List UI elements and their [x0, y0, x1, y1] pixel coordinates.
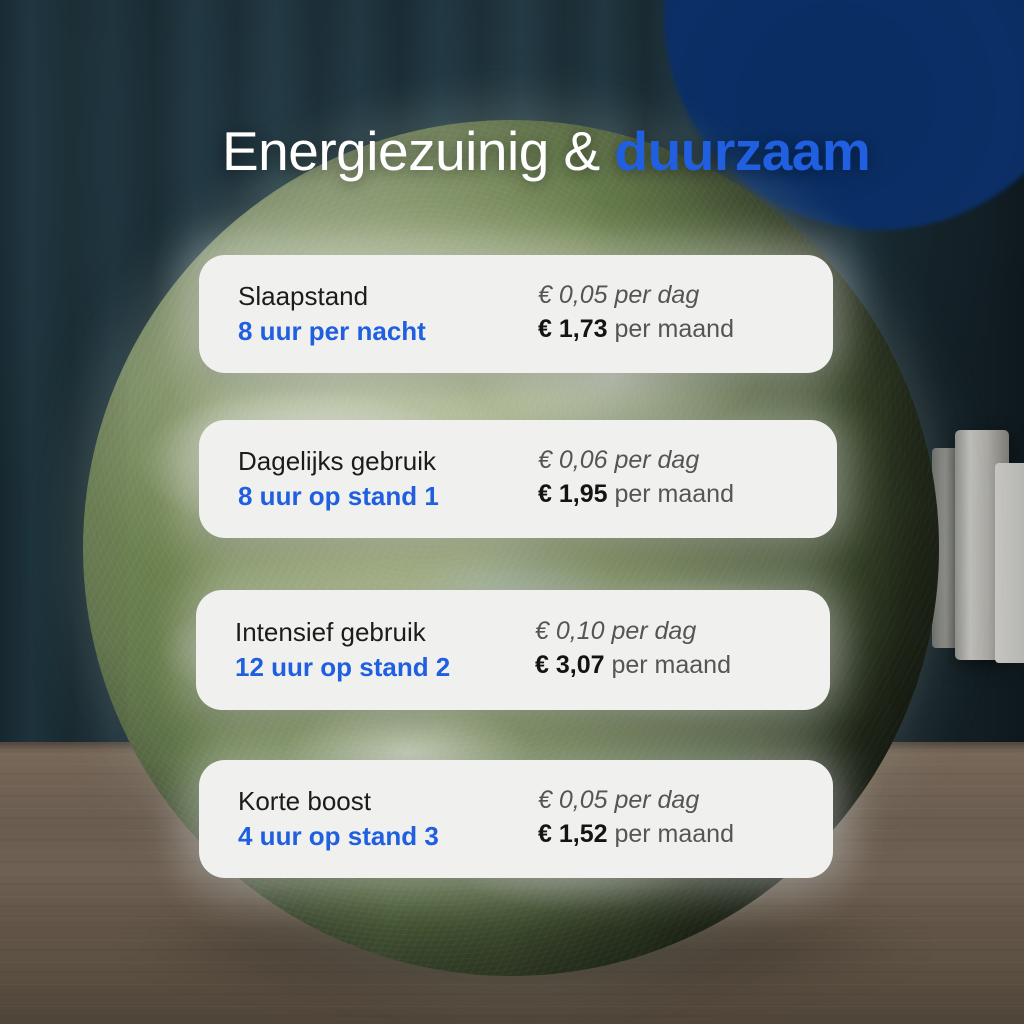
usage-price-per-day: € 0,05 per dag [538, 279, 833, 312]
usage-price-per-day: € 0,10 per dag [535, 615, 830, 648]
usage-card-mode-column: Dagelijks gebruik 8 uur op stand 1 [238, 444, 538, 513]
usage-card-mode-column: Slaapstand 8 uur per nacht [238, 279, 538, 348]
usage-duration-label: 8 uur per nacht [238, 314, 538, 349]
usage-price-per-month-suffix: per maand [608, 820, 734, 848]
usage-price-per-month-suffix: per maand [608, 315, 734, 343]
usage-duration-label: 12 uur op stand 2 [235, 650, 535, 685]
usage-card-daily: Dagelijks gebruik 8 uur op stand 1 € 0,0… [199, 420, 837, 538]
usage-price-per-month-amount: € 1,52 [538, 820, 608, 848]
usage-price-per-month: € 3,07 per maand [535, 649, 830, 682]
usage-card-boost: Korte boost 4 uur op stand 3 € 0,05 per … [199, 760, 833, 878]
usage-mode-label: Slaapstand [238, 279, 538, 314]
usage-card-price-column: € 0,06 per dag € 1,95 per maand [538, 444, 837, 513]
usage-card-mode-column: Intensief gebruik 12 uur op stand 2 [235, 615, 535, 684]
usage-mode-label: Dagelijks gebruik [238, 444, 538, 479]
usage-price-per-month-suffix: per maand [605, 651, 731, 679]
usage-price-per-day: € 0,05 per dag [538, 784, 833, 817]
usage-duration-label: 4 uur op stand 3 [238, 819, 538, 854]
usage-price-per-month-amount: € 3,07 [535, 651, 605, 679]
usage-card-sleep: Slaapstand 8 uur per nacht € 0,05 per da… [199, 255, 833, 373]
usage-price-per-day: € 0,06 per dag [538, 444, 837, 477]
usage-price-per-month: € 1,95 per maand [538, 478, 837, 511]
usage-card-intensive: Intensief gebruik 12 uur op stand 2 € 0,… [196, 590, 830, 710]
usage-card-list: Slaapstand 8 uur per nacht € 0,05 per da… [0, 0, 1024, 1024]
usage-card-price-column: € 0,05 per dag € 1,52 per maand [538, 784, 833, 853]
usage-price-per-month: € 1,73 per maand [538, 313, 833, 346]
usage-card-price-column: € 0,05 per dag € 1,73 per maand [538, 279, 833, 348]
usage-price-per-month-suffix: per maand [608, 480, 734, 508]
usage-price-per-month-amount: € 1,95 [538, 480, 608, 508]
usage-mode-label: Korte boost [238, 784, 538, 819]
usage-card-price-column: € 0,10 per dag € 3,07 per maand [535, 615, 830, 684]
usage-mode-label: Intensief gebruik [235, 615, 535, 650]
promo-graphic: Energiezuinig & duurzaam Slaapstand 8 uu… [0, 0, 1024, 1024]
usage-duration-label: 8 uur op stand 1 [238, 479, 538, 514]
usage-card-mode-column: Korte boost 4 uur op stand 3 [238, 784, 538, 853]
usage-price-per-month: € 1,52 per maand [538, 818, 833, 851]
usage-price-per-month-amount: € 1,73 [538, 315, 608, 343]
